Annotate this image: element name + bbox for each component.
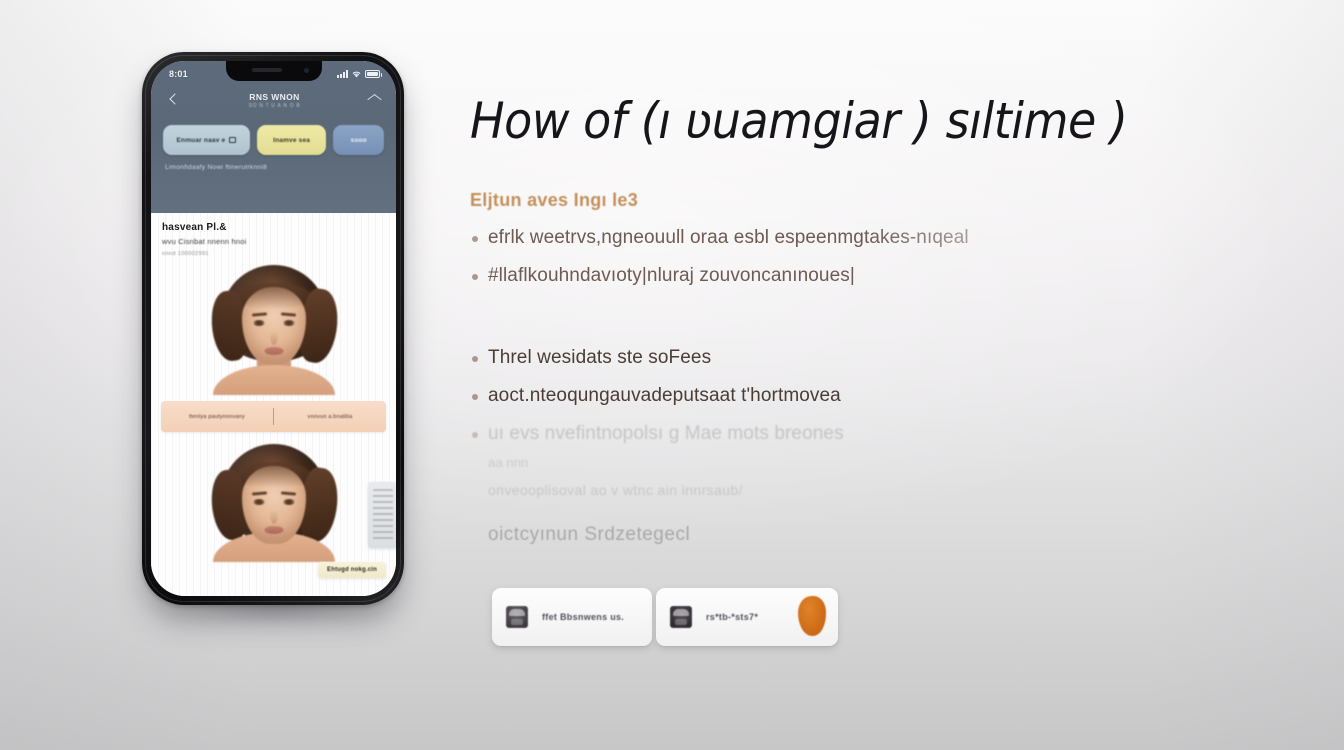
- app-content-area: hasvean Pl.& wvu Cisnbat nnenn hnoi nnnd…: [151, 213, 396, 596]
- action-card-row: ffet Bbsnwens us. rs*tb-*sts7*: [492, 588, 838, 646]
- peach-banner-left: ttenlya pautynonvany: [161, 414, 273, 420]
- earpiece-speaker-icon: [252, 68, 282, 72]
- portrait-photo-1: [208, 263, 340, 395]
- app-tile-dark-icon: [670, 606, 692, 628]
- phone-screen[interactable]: 8:01 RNS WNON SO N T U A N O B: [151, 61, 396, 596]
- status-indicators: [337, 70, 380, 79]
- section-subcaption: oictcyınun Srdzetegecl: [470, 524, 1230, 546]
- portrait-fringe: [237, 462, 311, 488]
- action-card-primary-label: ffet Bbsnwens us.: [542, 612, 624, 622]
- chip-secondary-label: Inamve sea: [273, 137, 310, 144]
- chip-tertiary[interactable]: sooo: [333, 125, 384, 155]
- app-title-block: RNS WNON SO N T U A N O B: [183, 92, 366, 109]
- chip-primary[interactable]: Enmuar naav e: [163, 125, 250, 155]
- list-item: aoct.nteoqungauvadeputsaat t'hortmovea: [470, 385, 1230, 407]
- list-item: uı evs nvefintnopolsı g Mae mots breones: [470, 423, 1230, 445]
- chip-primary-label: Enmuar naav e: [177, 137, 226, 144]
- section-one: Eljtun aves Ingı le3 efrlk weetrvs,ngneo…: [470, 190, 1230, 287]
- chip-secondary[interactable]: Inamve sea: [257, 125, 326, 155]
- phone-device: 8:01 RNS WNON SO N T U A N O B: [142, 52, 404, 605]
- article-header: hasvean Pl.& wvu Cisnbat nnenn hnoi nnnd…: [151, 213, 396, 257]
- filter-chip-row: Enmuar naav e Inamve sea sooo: [161, 117, 386, 155]
- chip-tertiary-label: sooo: [351, 137, 367, 144]
- portrait-nose: [270, 510, 277, 524]
- preview-thumbnail: [373, 489, 393, 541]
- list-item: efrlk weetrvs,ngneouull oraa esbl espeen…: [470, 227, 1230, 249]
- list-item: #llaflkouhndavıoty|nluraj zouvoncanınoue…: [470, 265, 1230, 287]
- share-icon[interactable]: [366, 92, 382, 108]
- peach-banner-right: voovun a.bnalitia: [274, 414, 386, 420]
- portrait-photo-2: [212, 442, 336, 562]
- action-card-secondary[interactable]: rs*tb-*sts7*: [656, 588, 838, 646]
- portrait-eye-right: [283, 320, 295, 326]
- list-item: Threl wesidats ste soFees: [470, 347, 1230, 369]
- document-preview-icon[interactable]: [368, 482, 396, 548]
- square-badge-icon: [229, 137, 236, 143]
- action-card-secondary-label: rs*tb-*sts7*: [706, 612, 758, 622]
- portrait-brow-left: [251, 312, 266, 316]
- portrait-eye-left: [253, 320, 265, 326]
- article-caption: nnnd 100002991: [162, 251, 385, 257]
- wifi-icon: [351, 70, 362, 79]
- header-note: Limonfidaafy Nowi ftinerutrknni8: [161, 155, 386, 171]
- phone-notch: [226, 61, 322, 81]
- article-title: hasvean Pl.&: [162, 222, 385, 233]
- portrait-shoulders: [213, 365, 335, 395]
- portrait-fringe: [237, 283, 311, 309]
- section-one-heading: Eljtun aves Ingı le3: [470, 190, 1230, 211]
- peach-info-banner[interactable]: ttenlya pautynonvany voovun a.bnalitia: [161, 401, 386, 432]
- app-tile-icon: [506, 606, 528, 628]
- list-item-micro: aa nnn: [470, 455, 1230, 470]
- photo-caption-tag[interactable]: Ehtugd nokg.cin: [318, 562, 386, 578]
- app-subtitle: SO N T U A N O B: [183, 103, 366, 109]
- orange-accent-blob: [798, 596, 826, 636]
- right-content-panel: How of (ı ʋuamgiar ) sıltime ) Eljtun av…: [470, 92, 1230, 546]
- portrait-eye-right: [283, 499, 295, 505]
- battery-icon: [365, 70, 380, 78]
- article-subtitle: wvu Cisnbat nnenn hnoi: [162, 237, 385, 246]
- app-title: RNS WNON: [183, 92, 366, 102]
- app-nav-row: RNS WNON SO N T U A N O B: [161, 83, 386, 117]
- back-chevron-icon[interactable]: [165, 91, 183, 109]
- portrait-brow-right: [280, 491, 295, 495]
- faint-note: onveooplisoval ao v wtnc ain innrsaub/: [470, 482, 1230, 498]
- portrait-brow-left: [251, 491, 266, 495]
- portrait-nose: [270, 331, 277, 345]
- portrait-lips: [264, 526, 283, 534]
- status-time: 8:01: [169, 69, 188, 79]
- portrait-lips: [264, 347, 283, 355]
- portrait-brow-right: [280, 312, 295, 316]
- app-header: 8:01 RNS WNON SO N T U A N O B: [151, 61, 396, 213]
- signal-bars-icon: [337, 70, 348, 78]
- portrait-eye-left: [253, 499, 265, 505]
- section-two: Threl wesidats ste soFees aoct.nteoqunga…: [470, 347, 1230, 546]
- front-camera-icon: [304, 68, 309, 73]
- page-title: How of (ı ʋuamgiar ) sıltime ): [470, 92, 1169, 150]
- action-card-primary[interactable]: ffet Bbsnwens us.: [492, 588, 652, 646]
